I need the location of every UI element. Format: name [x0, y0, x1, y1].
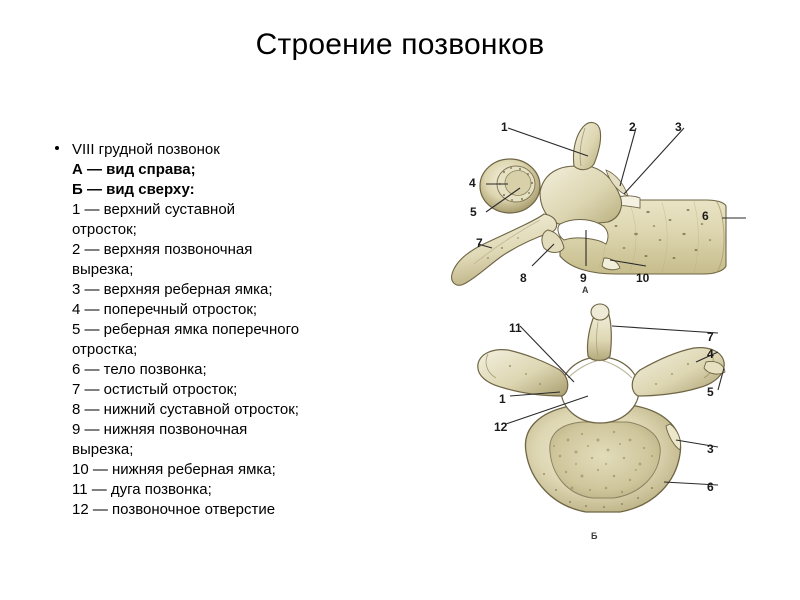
figure-a-label-5: 5: [470, 206, 477, 218]
slide-canvas: Строение позвонков VIII грудной позвонок…: [0, 0, 800, 600]
figure-a-label-8: 8: [520, 272, 527, 284]
figure-a-label-4: 4: [469, 177, 476, 189]
figure-a-label-7: 7: [476, 237, 483, 249]
content-line: 6 — тело позвонка;: [72, 360, 402, 380]
figure-b-label-1: 1: [499, 393, 506, 405]
figure-a-label-9: 9: [580, 272, 587, 284]
content-line: 8 — нижний суставной отросток;: [72, 400, 402, 420]
content-line: А — вид справа;: [72, 160, 402, 180]
content-line: Б — вид сверху:: [72, 180, 402, 200]
content-line: отросток;: [72, 220, 402, 240]
bullet-item: VIII грудной позвонокА — вид справа;Б — …: [52, 140, 402, 520]
figure-b-label-7: 7: [707, 331, 714, 343]
bullet-text-lines: VIII грудной позвонокА — вид справа;Б — …: [72, 140, 402, 520]
content-line: VIII грудной позвонок: [72, 140, 402, 160]
content-line: 5 — реберная ямка поперечного: [72, 320, 402, 340]
content-line: 11 — дуга позвонка;: [72, 480, 402, 500]
figure-b-label-3: 3: [707, 443, 714, 455]
figure-b-label-6: 6: [707, 481, 714, 493]
content-line: 10 — нижняя реберная ямка;: [72, 460, 402, 480]
figure-b-label-12: 12: [494, 421, 507, 433]
page-title: Строение позвонков: [0, 28, 800, 62]
content-line: 7 — остистый отросток;: [72, 380, 402, 400]
figure-a-label-6: 6: [702, 210, 709, 222]
content-line: 12 — позвоночное отверстие: [72, 500, 402, 520]
content-line: 2 — верхняя позвоночная: [72, 240, 402, 260]
figure-a-lateral-view: [448, 108, 788, 300]
content-line: 4 — поперечный отросток;: [72, 300, 402, 320]
figure-b-caption: Б: [591, 531, 597, 541]
figure-a-label-2: 2: [629, 121, 636, 133]
content-line: 1 — верхний суставной: [72, 200, 402, 220]
content-line: 9 — нижняя позвоночная: [72, 420, 402, 440]
content-line: вырезка;: [72, 260, 402, 280]
figure-a-label-10: 10: [636, 272, 649, 284]
figure-a-label-3: 3: [675, 121, 682, 133]
figure-a-label-1: 1: [501, 121, 508, 133]
content-bullet-list: VIII грудной позвонокА — вид справа;Б — …: [52, 140, 402, 520]
content-line: вырезка;: [72, 440, 402, 460]
figure-a-caption: А: [582, 285, 589, 295]
figure-b-label-11: 11: [509, 322, 522, 334]
figure-b-label-5: 5: [707, 386, 714, 398]
figure-b-label-4: 4: [707, 348, 714, 360]
content-line: 3 — верхняя реберная ямка;: [72, 280, 402, 300]
content-line: отростка;: [72, 340, 402, 360]
figure-a-illustration: [448, 108, 788, 300]
bullet-dot-icon: [55, 146, 59, 150]
